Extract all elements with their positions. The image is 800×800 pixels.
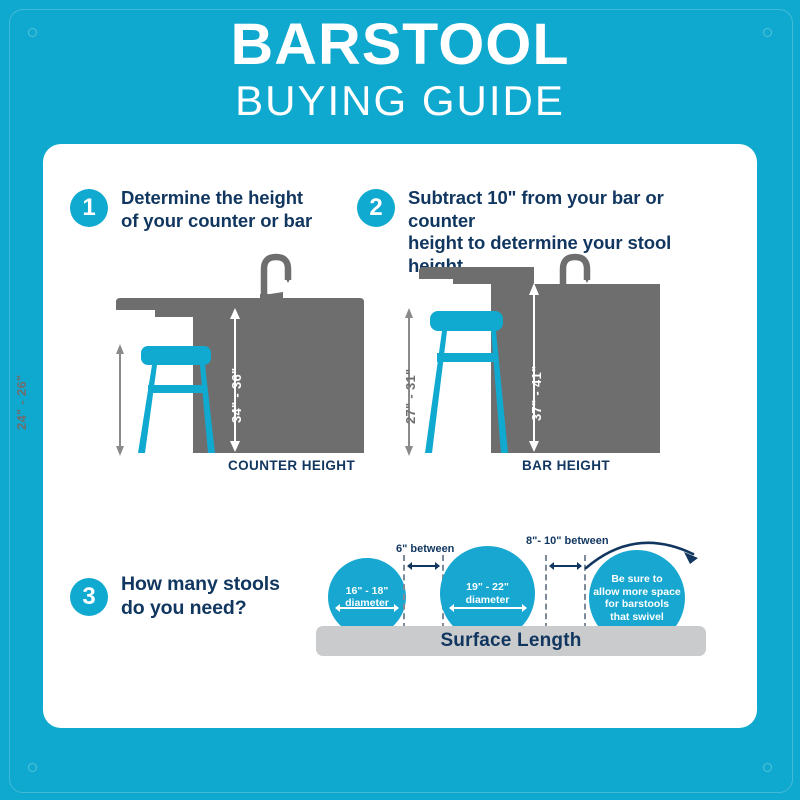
bar-stool-height-label: 27" - 31" <box>403 369 418 425</box>
surface-length-label: Surface Length <box>440 630 581 652</box>
step-1-heading: 1 Determine the height of your counter o… <box>70 187 360 232</box>
screw-icon-bottom-right <box>763 763 772 772</box>
swivel-note-line-1: Be sure to <box>611 573 662 586</box>
swivel-note-line-2: allow more space <box>593 586 681 599</box>
stool-leg-left <box>138 365 157 453</box>
step-3-text: How many stools do you need? <box>121 572 280 620</box>
large-diameter-arrow <box>450 607 526 609</box>
bar-height-diagram <box>388 253 678 468</box>
stool-circle-small: 16" - 18" diameter <box>328 558 406 636</box>
step-1-line-2: of your counter or bar <box>121 210 312 233</box>
step-2-line-1: Subtract 10" from your bar or counter <box>408 187 717 232</box>
step-1-line-1: Determine the height <box>121 187 312 210</box>
screw-icon-bottom-left <box>28 763 37 772</box>
surface-length-bar: Surface Length <box>316 626 706 656</box>
gap-1-label: 6" between <box>396 543 454 555</box>
bar-lower-slab <box>534 302 660 314</box>
small-diameter-arrow <box>336 607 398 609</box>
bar-height-caption: BAR HEIGHT <box>522 458 610 473</box>
stool-seat <box>141 346 211 365</box>
stool-circle-small-line-1: 16" - 18" <box>346 585 389 598</box>
gap-2-dash-left <box>545 555 547 629</box>
swivel-note-line-4: that swivel <box>610 611 664 624</box>
step-2-badge: 2 <box>357 189 395 227</box>
bar-surface-height-label: 37" - 41" <box>529 366 544 422</box>
faucet-icon <box>264 257 291 299</box>
step-1-text: Determine the height of your counter or … <box>121 187 312 232</box>
step-3-badge: 3 <box>70 578 108 616</box>
stool-leg-left <box>425 331 447 453</box>
stool-stretcher <box>437 353 497 362</box>
stool-stretcher <box>148 385 206 393</box>
page-title: BARSTOOL <box>0 14 800 76</box>
counter-height-caption: COUNTER HEIGHT <box>228 458 355 473</box>
gap-2-arrow <box>550 565 581 567</box>
step-3-line-2: do you need? <box>121 596 280 620</box>
header: BARSTOOL BUYING GUIDE <box>0 14 800 126</box>
step-3-heading: 3 How many stools do you need? <box>70 572 350 620</box>
swivel-note-line-3: for barstools <box>605 598 669 611</box>
counter-surface-height-label: 34" - 36" <box>229 368 244 424</box>
gap-1-arrow <box>408 565 439 567</box>
counter-height-diagram <box>95 253 385 468</box>
counter-stool-dimension <box>116 344 124 456</box>
swivel-arrow-icon <box>580 528 710 574</box>
page-subtitle: BUYING GUIDE <box>0 76 800 126</box>
gap-1-dash-left <box>403 555 405 629</box>
stool-seat <box>430 311 503 331</box>
step-1-badge: 1 <box>70 189 108 227</box>
stool-circle-large-line-1: 19" - 22" <box>466 581 509 594</box>
counter-stool-height-label: 24" - 26" <box>14 375 29 431</box>
step-3-line-1: How many stools <box>121 572 280 596</box>
stool-circle-large-line-2: diameter <box>466 594 510 607</box>
